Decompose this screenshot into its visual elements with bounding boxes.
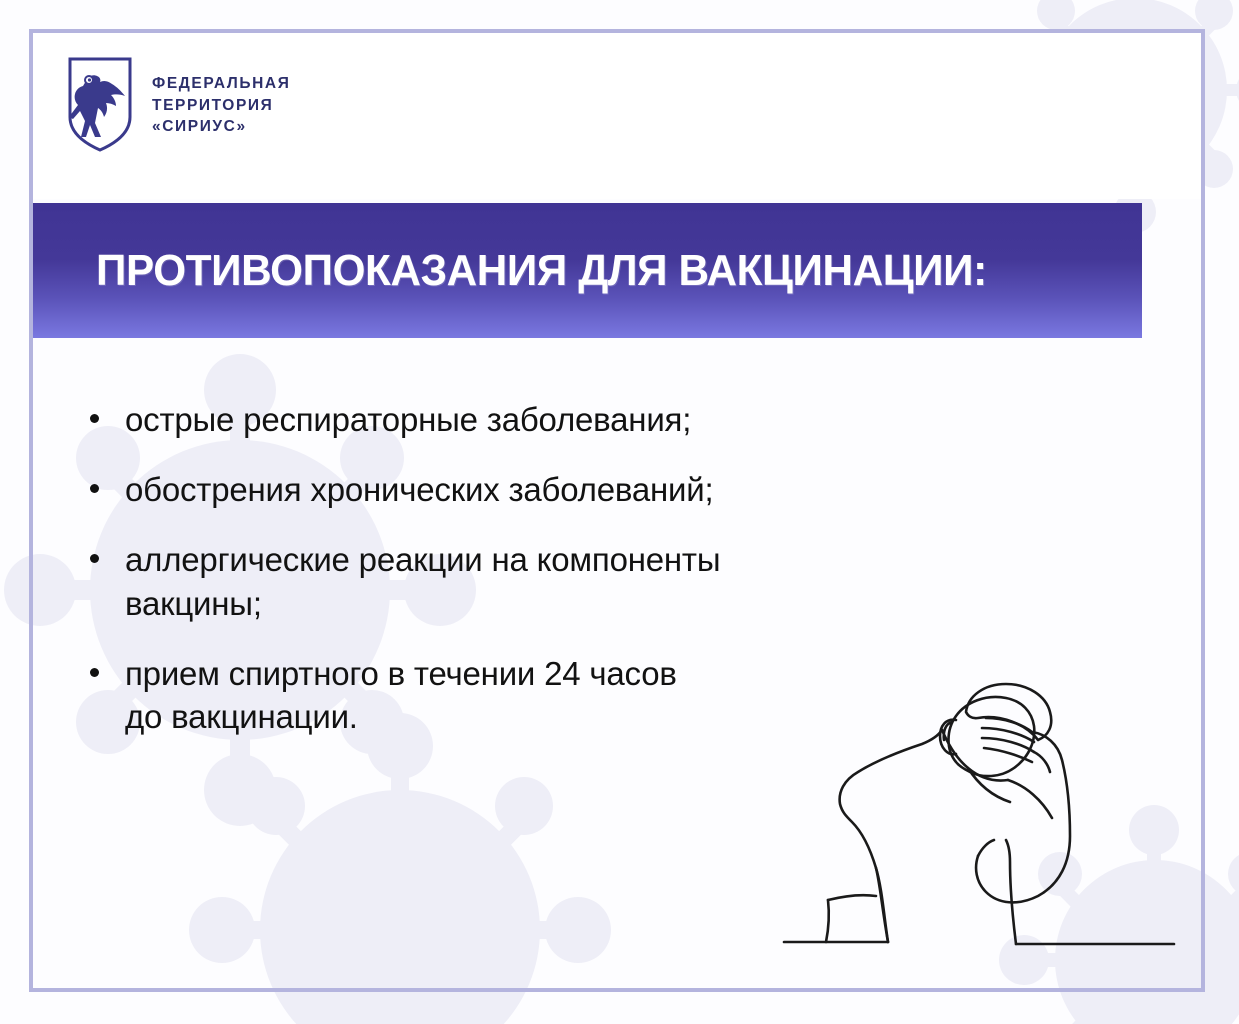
organization-logo: ФЕДЕРАЛЬНАЯ ТЕРРИТОРИЯ «СИРИУС» xyxy=(66,55,290,153)
bullet-dot-icon xyxy=(90,554,99,563)
slide-root: ФЕДЕРАЛЬНАЯ ТЕРРИТОРИЯ «СИРИУС» ПРОТИВОП… xyxy=(0,0,1239,1024)
list-item: аллергические реакции на компоненты вакц… xyxy=(90,538,990,626)
page-title: ПРОТИВОПОКАЗАНИЯ ДЛЯ ВАКЦИНАЦИИ: xyxy=(96,246,987,296)
list-item: обострения хронических заболеваний; xyxy=(90,468,990,512)
bullet-dot-icon xyxy=(90,414,99,423)
list-item-text: острые респираторные заболевания; xyxy=(125,398,691,442)
shield-pegasus-icon xyxy=(66,55,134,153)
list-item-text: прием спиртного в течении 24 часов до ва… xyxy=(125,652,677,740)
header-strip: ФЕДЕРАЛЬНАЯ ТЕРРИТОРИЯ «СИРИУС» xyxy=(33,33,1201,199)
list-item-text: аллергические реакции на компоненты вакц… xyxy=(125,538,720,626)
list-item-text: обострения хронических заболеваний; xyxy=(125,468,713,512)
list-item: острые респираторные заболевания; xyxy=(90,398,990,442)
title-banner: ПРОТИВОПОКАЗАНИЯ ДЛЯ ВАКЦИНАЦИИ: xyxy=(33,203,1142,338)
logo-line-3: «СИРИУС» xyxy=(152,118,290,137)
person-with-headache-line-art xyxy=(770,672,1190,972)
bullet-dot-icon xyxy=(90,484,99,493)
headache-figure-icon xyxy=(770,672,1190,972)
logo-line-1: ФЕДЕРАЛЬНАЯ xyxy=(152,75,290,94)
bullet-dot-icon xyxy=(90,668,99,677)
logo-line-2: ТЕРРИТОРИЯ xyxy=(152,97,290,116)
